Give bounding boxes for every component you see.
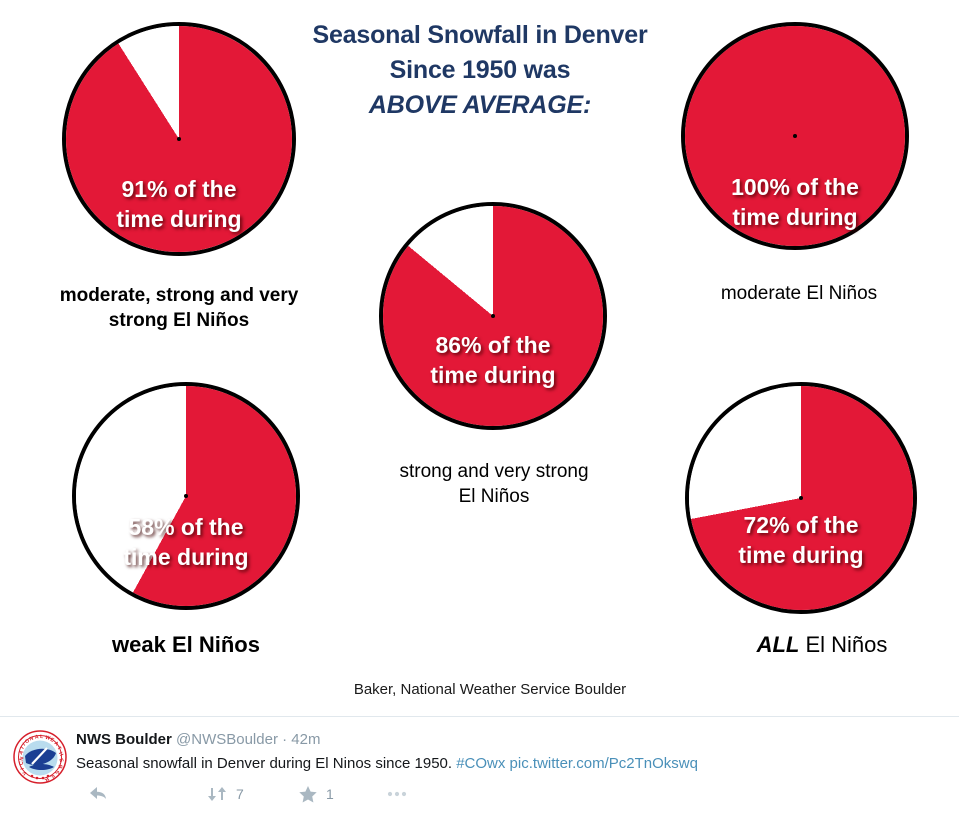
pie-center-label: 72% of the time during [689, 510, 913, 570]
pie-chart-weak: 58% of the time during [72, 382, 300, 610]
tweet-body: NWS Boulder @NWSBoulder · 42m Seasonal s… [76, 730, 936, 774]
pie-center-label: 100% of the time during [685, 172, 905, 232]
tweet-text-body: Seasonal snowfall in Denver during El Ni… [76, 755, 456, 772]
pie-label-line-1: 58% of the [76, 512, 296, 542]
tweet-link[interactable]: #COwx pic.twitter.com/Pc2TnOkswq [456, 755, 698, 772]
retweet-icon [206, 785, 228, 803]
tweet-header: NWS Boulder @NWSBoulder · 42m [76, 730, 936, 750]
caption-line-2: El Niños [339, 484, 649, 509]
pie-caption-moderate: moderate El Niños [659, 281, 939, 306]
pie-chart-moderate: 100% of the time during [681, 22, 909, 250]
pie-center-dot [491, 314, 495, 318]
pie-center-dot [177, 137, 181, 141]
caption-emphasis: ALL [757, 632, 800, 657]
pie-label-line-1: 91% of the [66, 174, 292, 204]
pie-label-line-1: 100% of the [685, 172, 905, 202]
pie-caption-all: ALL El Niños [676, 632, 959, 657]
pie-center-label: 86% of the time during [383, 330, 603, 390]
more-options-button[interactable] [386, 782, 408, 806]
reply-arrow-icon [88, 785, 108, 803]
favorite-button[interactable]: 1 [298, 782, 334, 806]
pie-center-dot [184, 494, 188, 498]
pie-label-line-2: time during [383, 360, 603, 390]
pie-chart-moderate-strong-verystrong: 91% of the time during [62, 22, 296, 256]
tweet-display-name[interactable]: NWS Boulder [76, 731, 172, 748]
infographic-image: Seasonal Snowfall in Denver Since 1950 w… [0, 0, 959, 716]
svg-text:C: C [19, 761, 25, 765]
favorite-count: 1 [326, 786, 334, 802]
pie-chart-all: 72% of the time during [685, 382, 917, 614]
more-horizontal-icon [386, 790, 408, 798]
tweet-handle[interactable]: @NWSBoulder [176, 731, 278, 748]
tweet-text: Seasonal snowfall in Denver during El Ni… [76, 753, 936, 774]
page-title: Seasonal Snowfall in Denver Since 1950 w… [240, 18, 720, 123]
pie-caption-strong-verystrong: strong and very strong El Niños [339, 459, 649, 509]
retweet-count: 7 [236, 786, 244, 802]
credit-line: Baker, National Weather Service Boulder [260, 681, 720, 698]
reply-button[interactable] [88, 782, 108, 806]
pie-label-line-2: time during [685, 202, 905, 232]
tweet-actions: 7 1 [76, 782, 476, 808]
retweet-button[interactable]: 7 [206, 782, 244, 806]
caption-rest: El Niños [799, 632, 887, 657]
title-line-2: Since 1950 was [240, 53, 720, 88]
pie-chart-strong-verystrong: 86% of the time during [379, 202, 607, 430]
svg-text:R: R [57, 765, 63, 769]
pie-label-line-2: time during [66, 204, 292, 234]
pie-center-label: 58% of the time during [76, 512, 296, 572]
nws-boulder-logo-icon: N A T I O N A L W E A T H E R S E R V I … [13, 730, 67, 784]
pie-center-dot [793, 134, 797, 138]
pie-label-line-1: 72% of the [689, 510, 913, 540]
pie-caption-moderate-strong-verystrong: moderate, strong and very strong El Niño… [29, 283, 329, 333]
title-line-3: ABOVE AVERAGE: [240, 88, 720, 123]
title-line-1: Seasonal Snowfall in Denver [240, 18, 720, 53]
pie-caption-weak: weak El Niños [36, 632, 336, 657]
pie-center-dot [799, 496, 803, 500]
tweet-timestamp[interactable]: 42m [291, 731, 320, 748]
avatar[interactable]: N A T I O N A L W E A T H E R S E R V I … [13, 730, 67, 784]
pie-center-label: 91% of the time during [66, 174, 292, 234]
caption-line-1: strong and very strong [339, 459, 649, 484]
tweet-separator: · [282, 731, 287, 748]
pie-label-line-1: 86% of the [383, 330, 603, 360]
star-icon [298, 785, 318, 804]
pie-label-line-2: time during [76, 542, 296, 572]
pie-label-line-2: time during [689, 540, 913, 570]
